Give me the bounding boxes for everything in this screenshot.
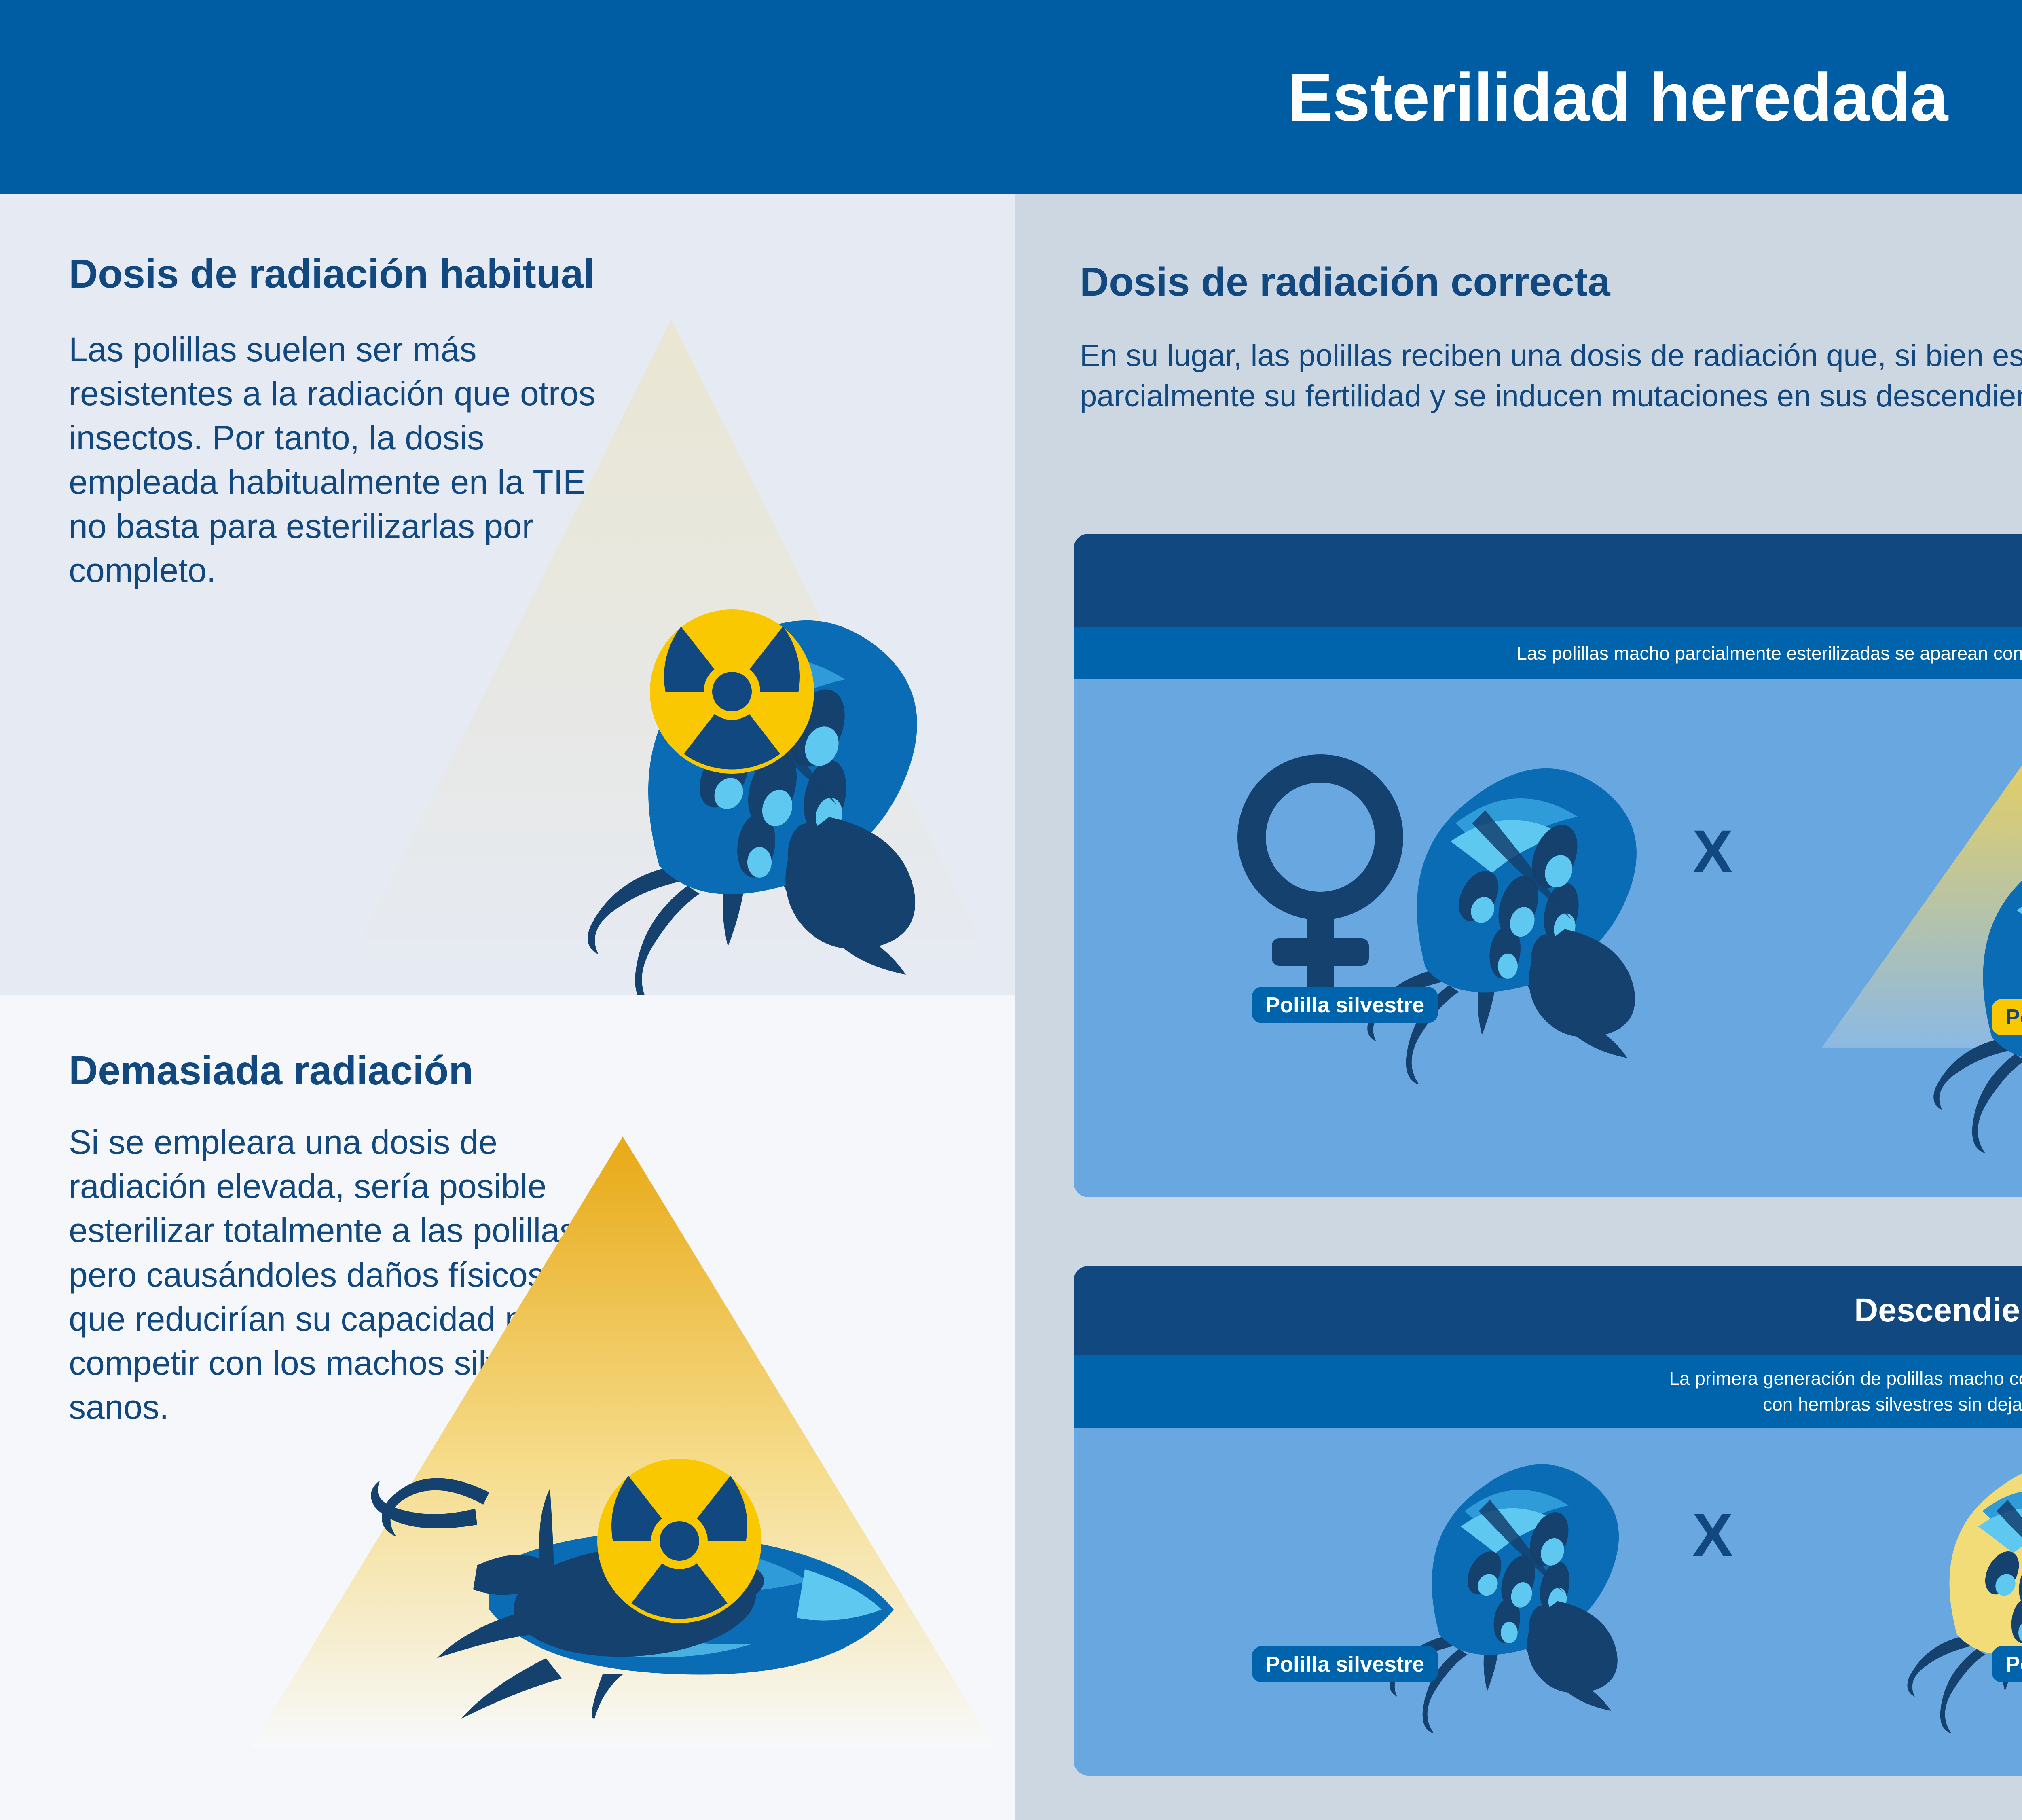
card-parents-caption: Las polillas macho parcialmente esterili… [1074,627,2022,679]
card-offspring-title: Descendientes [1854,1291,2022,1329]
right-column: Dosis de radiación correcta En su lugar,… [1015,194,2022,1820]
page-title: Esterilidad heredada [1288,58,1948,136]
pill-sterile-moth: Polilla estéril [1992,1646,2022,1682]
pill-irradiated-moth: Polilla irradiada [1992,999,2022,1035]
moth-blue-wild-icon [1332,1428,1656,1735]
radiation-icon [647,607,817,777]
card-parents-title-bar: Progenitores [1074,534,2022,627]
card-parents-body: Polilla silvestre X [1074,679,2022,1197]
page-header: Esterilidad heredada [0,0,2022,194]
card-offspring-body: Polilla silvestre X [1074,1428,2022,1776]
cross-operator: X [1692,821,1733,882]
panel-usual-dose: Dosis de radiación habitual Las polillas… [0,194,1015,995]
right-intro-text: En su lugar, las polillas reciben una do… [1080,336,2022,417]
card-offspring: Descendientes (primera generación) La pr… [1074,1266,2022,1776]
card-parents: Progenitores Las polillas macho parcialm… [1074,534,2022,1197]
pill-wild-moth: Polilla silvestre [1252,987,1438,1023]
radiation-icon [2020,702,2022,803]
panel-too-much-radiation: Demasiada radiación Si se empleara una d… [0,995,1015,1820]
caption-line-1: La primera generación de polillas macho … [1669,1365,2022,1391]
card-offspring-title-bar: Descendientes (primera generación) [1074,1266,2022,1355]
left-column: Dosis de radiación habitual Las polillas… [0,194,1015,1820]
cross-operator: X [1692,1505,1733,1565]
radiation-icon [594,1456,764,1626]
card-offspring-caption: La primera generación de polillas macho … [1074,1355,2022,1428]
moth-irradiated-icon [1866,797,2022,1153]
right-heading: Dosis de radiación correcta [1080,259,1610,305]
infographic-root: Esterilidad heredada [0,0,2022,1820]
moth-yellow-sterile-icon [1850,1428,2022,1735]
pill-wild-moth: Polilla silvestre [1252,1646,1438,1682]
moth-blue-wild-icon [1300,728,1680,1084]
caption-line-2: con hembras silvestres sin dejar descend… [1763,1391,2022,1417]
